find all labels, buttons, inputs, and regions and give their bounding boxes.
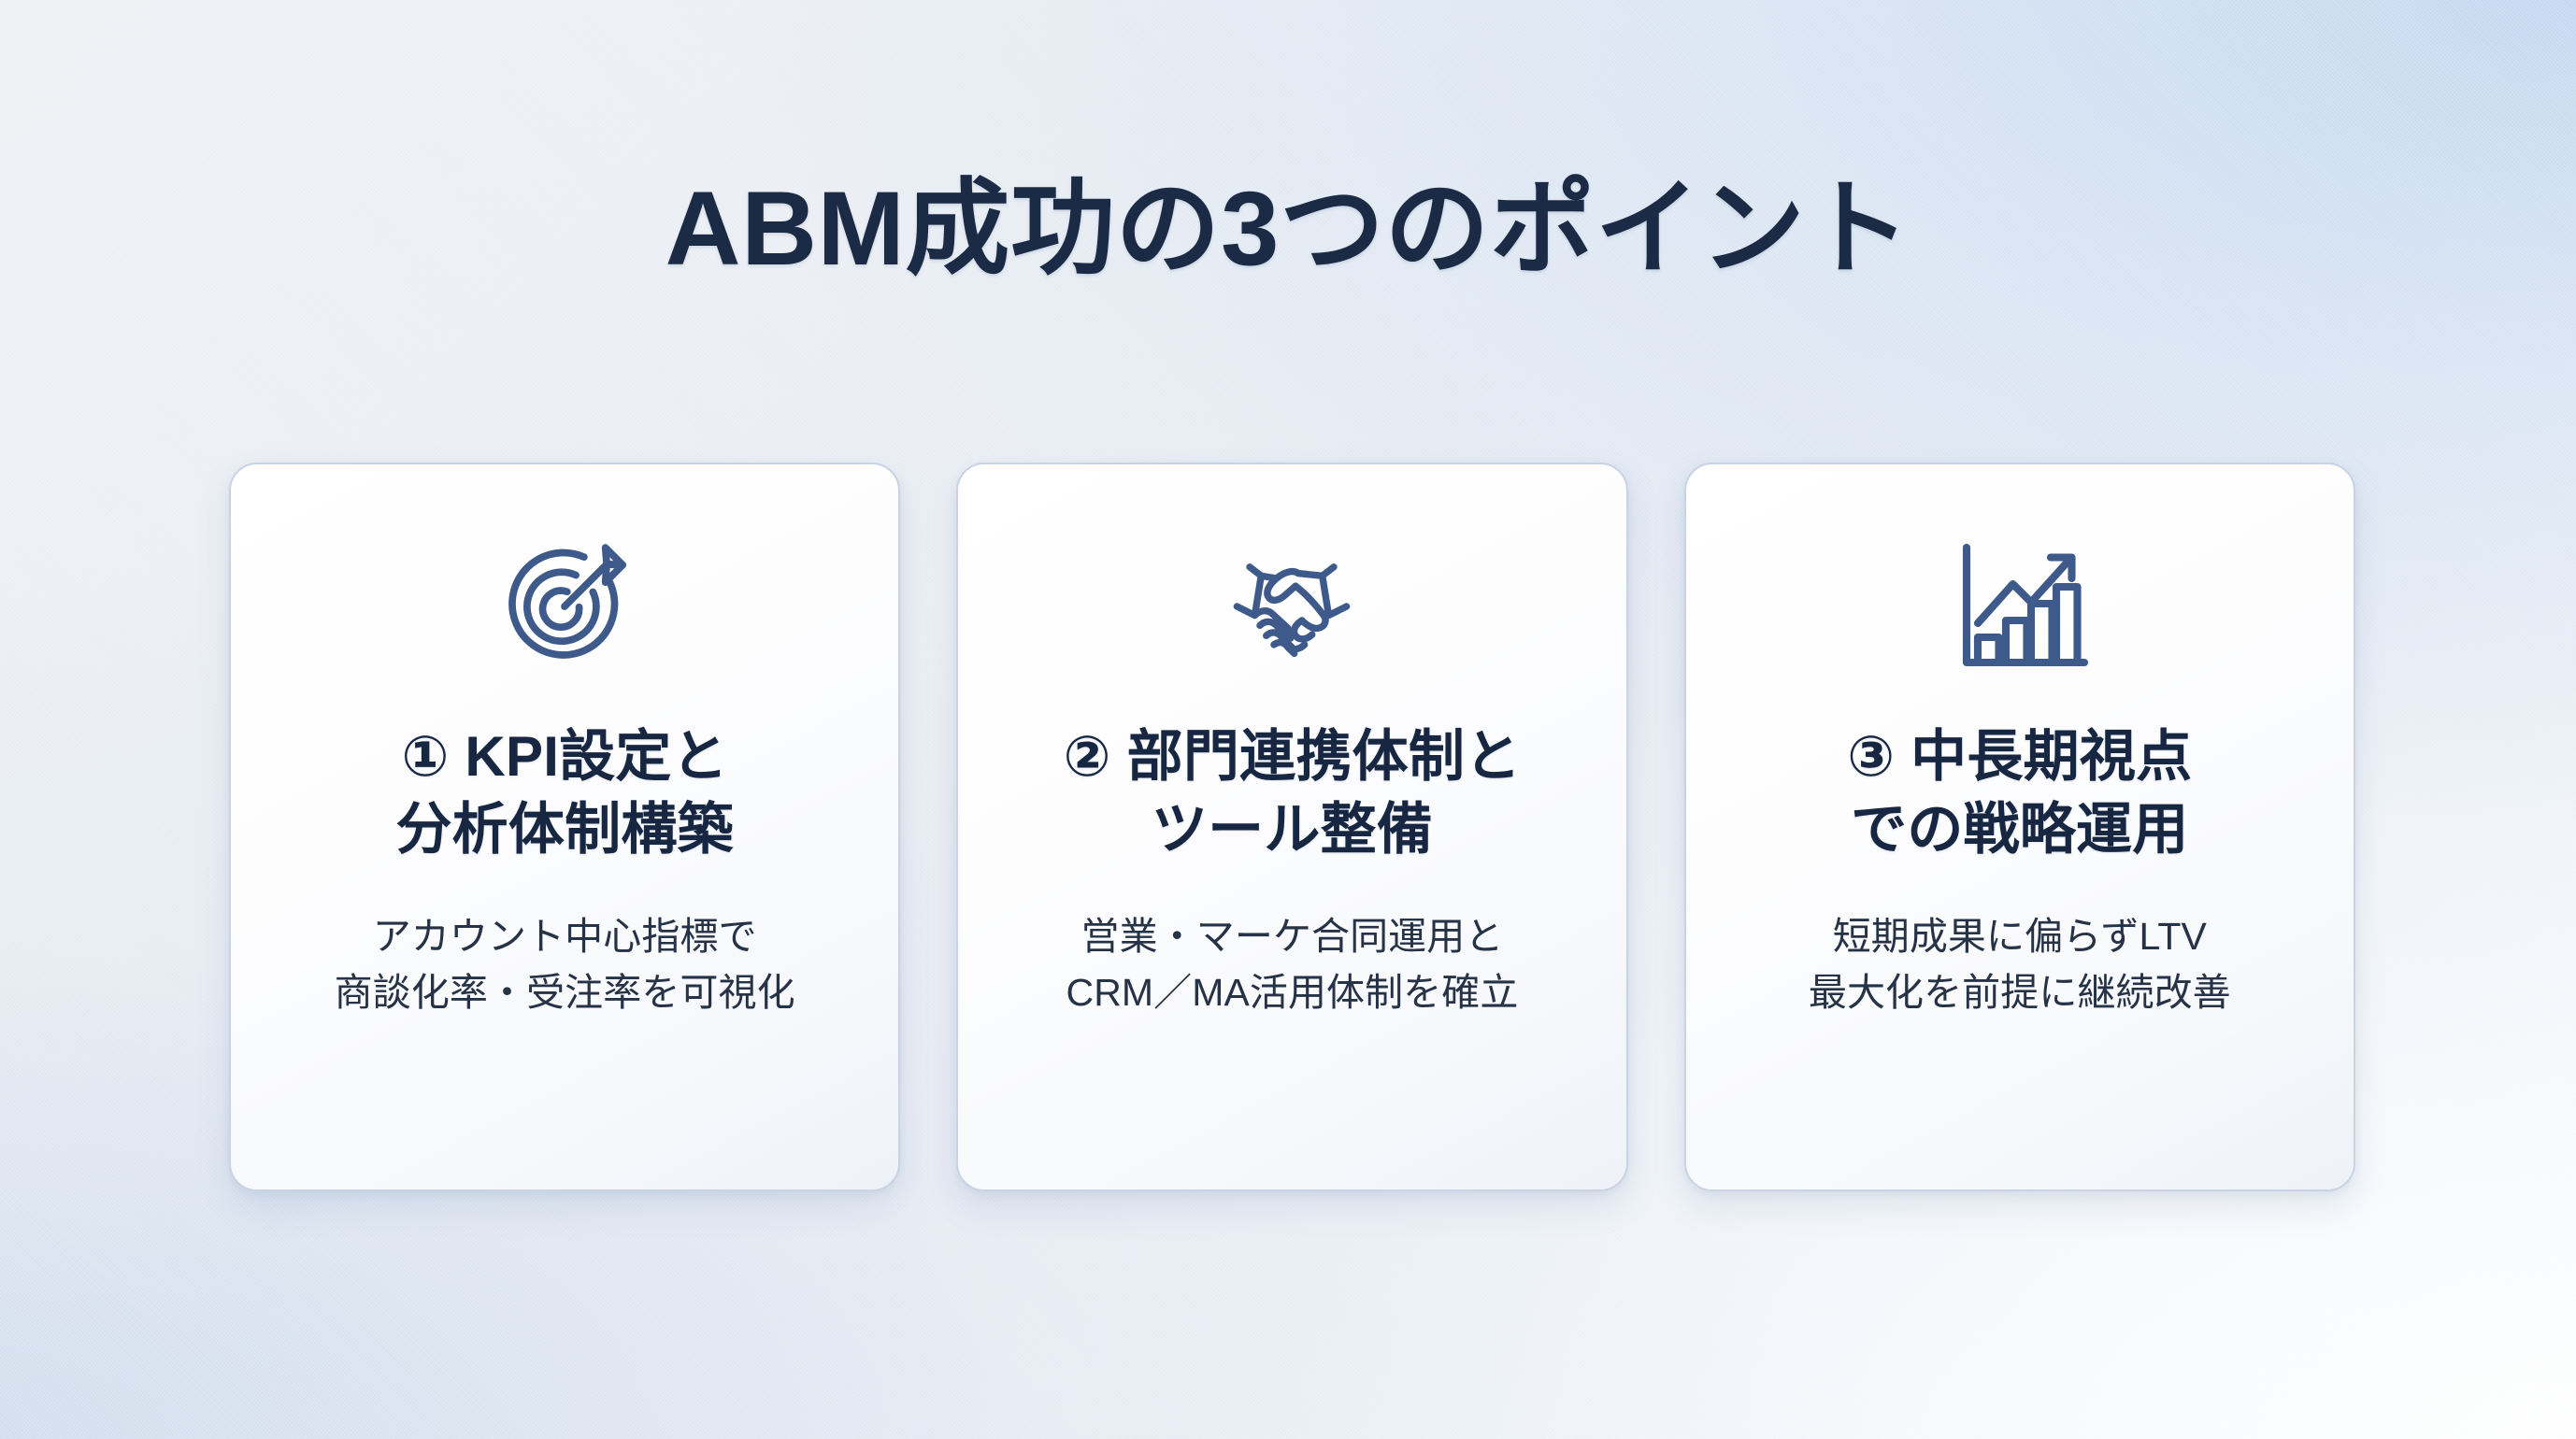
point-card-3[interactable]: ③ 中長期視点 での戦略運用 短期成果に偏らずLTV 最大化を前提に継続改善 xyxy=(1684,463,2355,1191)
growth-chart-icon xyxy=(1950,537,2090,676)
point-card-1[interactable]: ① KPI設定と 分析体制構築 アカウント中心指標で 商談化率・受注率を可視化 xyxy=(229,463,900,1191)
point-card-3-heading: ③ 中長期視点 での戦略運用 xyxy=(1847,720,2192,866)
target-arrow-icon xyxy=(494,537,635,676)
point-card-2[interactable]: ② 部門連携体制と ツール整備 営業・マーケ合同運用と CRM／MA活用体制を確… xyxy=(956,463,1627,1191)
points-card-row: ① KPI設定と 分析体制構築 アカウント中心指標で 商談化率・受注率を可視化 xyxy=(229,463,2355,1191)
page-title: ABM成功の3つのポイント xyxy=(0,170,2576,287)
point-card-1-body: アカウント中心指標で 商談化率・受注率を可視化 xyxy=(335,909,795,1021)
point-card-2-body: 営業・マーケ合同運用と CRM／MA活用体制を確立 xyxy=(1066,909,1519,1021)
point-card-2-heading: ② 部門連携体制と ツール整備 xyxy=(1064,720,1522,866)
point-card-1-heading: ① KPI設定と 分析体制構築 xyxy=(395,720,733,866)
handshake-icon xyxy=(1222,537,1362,676)
slide-canvas: ABM成功の3つのポイント ① KPI設定と 分析体制構築 アカウント中心指標で… xyxy=(0,0,2576,1439)
point-card-3-body: 短期成果に偏らずLTV 最大化を前提に継続改善 xyxy=(1809,909,2231,1021)
